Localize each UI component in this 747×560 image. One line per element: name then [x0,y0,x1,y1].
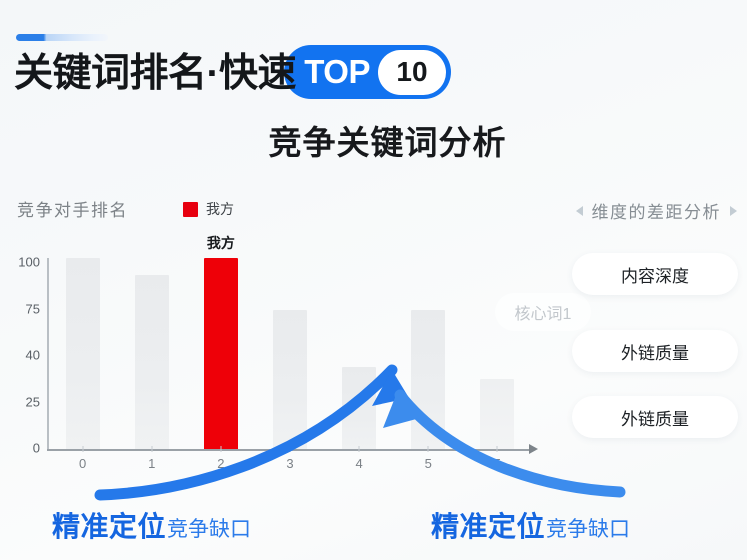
accent-bar [16,34,108,41]
bar-5-5 [411,310,445,450]
x-axis-arrow-icon [529,444,538,454]
x-axis-tick-6: 5 [494,456,501,471]
top-badge-value: 10 [378,50,446,95]
dimension-panel-header: 维度的差距分析 [576,198,738,223]
bar-5-6 [480,379,514,450]
dimension-card-2[interactable]: 外链质量 [572,396,738,438]
x-axis-tick-2: 2 [217,456,224,471]
top-badge-label: TOP [304,53,370,91]
bar-0-0 [66,258,100,450]
x-axis-tick-4: 4 [356,456,363,471]
y-axis-tick-0: 0 [33,441,40,456]
bar-series: 我方 [48,258,532,450]
x-axis-tick-5: 5 [425,456,432,471]
bar-1-1 [135,275,169,450]
caption-right-weak: 竞争缺口 [546,513,630,543]
caption-right: 精准定位 竞争缺口 [431,505,630,545]
chevron-right-icon [730,206,737,216]
legend-swatch-icon [183,202,198,217]
y-axis-labels: 1007540250 [0,240,46,450]
caption-right-strong: 精准定位 [431,505,545,545]
y-axis-tick-25: 25 [26,394,40,409]
headline-title: 关键词排名·快速 [14,54,296,93]
x-axis-tick-mark-5 [428,446,429,452]
ghost-keyword-card: 核心词1 [495,293,591,331]
y-axis-tick-75: 75 [26,301,40,316]
x-axis-tick-mark-4 [359,446,360,452]
dimension-card-0[interactable]: 内容深度 [572,253,738,295]
top-badge: TOP 10 [284,45,451,99]
bar-4-4 [342,367,376,450]
headline: 关键词排名·快速 [14,44,296,102]
dimension-panel-title: 维度的差距分析 [592,198,722,223]
caption-left: 精准定位 竞争缺口 [52,505,251,545]
x-axis-tick-mark-6 [497,446,498,452]
poster-canvas: TOP 10 关键词排名·快速 竞争关键词分析 竞争对手排名 我方 维度的差距分… [0,0,747,560]
caption-left-weak: 竞争缺口 [167,513,251,543]
y-axis-tick-40: 40 [26,348,40,363]
legend-label: 我方 [206,199,234,219]
bar-2-2: 我方 [204,258,238,450]
page-subtitle: 竞争关键词分析 [0,116,747,164]
dimension-card-1[interactable]: 外链质量 [572,330,738,372]
chevron-left-icon [576,206,583,216]
x-axis-tick-3: 3 [286,456,293,471]
x-axis-tick-mark-3 [290,446,291,452]
chart-title: 竞争对手排名 [17,196,128,221]
x-axis-tick-1: 1 [148,456,155,471]
x-axis-labels: 0123455 [48,454,532,478]
x-axis-tick-mark-0 [82,446,83,452]
y-axis-tick-100: 100 [18,255,40,270]
x-axis-tick-mark-1 [151,446,152,452]
chart-legend: 我方 [183,199,234,219]
bar-3-3 [273,310,307,450]
bar-chart: 1007540250 我方 0123455 [0,240,560,480]
x-axis-tick-mark-2 [220,446,221,452]
caption-left-strong: 精准定位 [52,505,166,545]
bar-highlight-label: 我方 [207,233,235,253]
x-axis-tick-0: 0 [79,456,86,471]
